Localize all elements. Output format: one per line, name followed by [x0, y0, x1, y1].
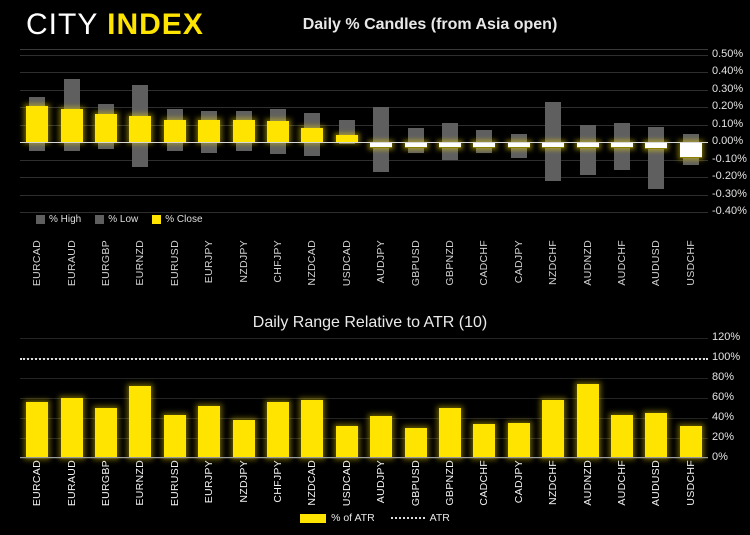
candle[interactable]: [295, 55, 329, 212]
atr-bar[interactable]: [398, 338, 432, 458]
x-axis-tick-label: CADJPY: [513, 240, 525, 283]
x-axis-tick-label: AUDUSD: [650, 460, 662, 506]
atr-bar-fill: [473, 424, 495, 458]
candle[interactable]: [639, 55, 673, 212]
candle[interactable]: [364, 55, 398, 212]
atr-bar-fill: [301, 400, 323, 458]
atr-bar[interactable]: [54, 338, 88, 458]
candle-wick: [408, 128, 424, 152]
legend-label: % Low: [108, 214, 138, 225]
x-axis-tick-label: AUDJPY: [375, 240, 387, 283]
x-axis-tick-label: NZDCHF: [547, 460, 559, 505]
x-axis-tick-label: USDCHF: [685, 240, 697, 286]
x-axis-tick-label: CHFJPY: [272, 240, 284, 283]
x-axis-tick-label: EURUSD: [169, 460, 181, 506]
candle[interactable]: [467, 55, 501, 212]
y-axis-tick-label: 80%: [712, 371, 734, 383]
atr-bar-fill: [61, 398, 83, 458]
x-axis-tick-label: EURNZD: [134, 460, 146, 506]
x-axis-tick-label: NZDCAD: [306, 240, 318, 286]
page-title: Daily % Candles (from Asia open): [240, 16, 620, 34]
atr-bar-fill: [129, 386, 151, 458]
atr-bar[interactable]: [502, 338, 536, 458]
candle[interactable]: [502, 55, 536, 212]
x-axis-tick-label: EURGBP: [100, 460, 112, 506]
brand-logo-index: INDEX: [107, 8, 204, 41]
candle[interactable]: [674, 55, 708, 212]
x-axis-tick-label: USDCAD: [341, 460, 353, 506]
atr-chart-title: Daily Range Relative to ATR (10): [170, 314, 570, 332]
atr-bar-fill: [611, 415, 633, 458]
header-divider: [20, 49, 708, 50]
legend-bar-icon: [300, 514, 326, 523]
x-axis-tick-label: EURCAD: [31, 460, 43, 506]
y-axis-tick-label: -0.10%: [712, 153, 747, 165]
atr-chart-legend: % of ATRATR: [0, 512, 750, 524]
candle[interactable]: [54, 55, 88, 212]
x-axis-tick-label: EURJPY: [203, 460, 215, 503]
candle-body: [198, 120, 220, 143]
y-axis-tick-label: 0.10%: [712, 118, 743, 130]
y-axis-tick-label: 120%: [712, 331, 740, 343]
legend-swatch-icon: [95, 215, 104, 224]
atr-bar-fill: [370, 416, 392, 458]
candle[interactable]: [330, 55, 364, 212]
candle[interactable]: [158, 55, 192, 212]
candle-body: [26, 106, 48, 143]
x-axis-tick-label: EURAUD: [66, 240, 78, 286]
candle-body: [301, 128, 323, 142]
y-axis-tick-label: 40%: [712, 411, 734, 423]
x-axis-tick-label: EURAUD: [66, 460, 78, 506]
atr-bar[interactable]: [639, 338, 673, 458]
candle[interactable]: [536, 55, 570, 212]
atr-bar-fill: [336, 426, 358, 458]
y-axis-tick-label: -0.40%: [712, 205, 747, 217]
atr-bar-fill: [267, 402, 289, 458]
atr-bar[interactable]: [364, 338, 398, 458]
x-axis-tick-label: NZDCAD: [306, 460, 318, 506]
legend-swatch-icon: [36, 215, 45, 224]
candle-body: [680, 142, 702, 158]
candle[interactable]: [570, 55, 604, 212]
atr-bar-fill: [680, 426, 702, 458]
candle[interactable]: [20, 55, 54, 212]
y-axis-tick-label: 0.00%: [712, 135, 743, 147]
y-axis-tick-label: 0.30%: [712, 83, 743, 95]
atr-bar[interactable]: [570, 338, 604, 458]
x-axis-tick-label: CADCHF: [478, 460, 490, 506]
gridline: [20, 212, 708, 213]
candle[interactable]: [192, 55, 226, 212]
candle[interactable]: [433, 55, 467, 212]
y-axis-tick-label: 0%: [712, 451, 728, 463]
x-axis-tick-label: EURGBP: [100, 240, 112, 286]
x-axis-tick-label: EURCAD: [31, 240, 43, 286]
atr-reference-line: [20, 358, 708, 360]
legend-swatch-icon: [152, 215, 161, 224]
atr-bar[interactable]: [536, 338, 570, 458]
atr-bar[interactable]: [89, 338, 123, 458]
y-axis-tick-label: 60%: [712, 391, 734, 403]
candle[interactable]: [261, 55, 295, 212]
atr-chart-x-axis: EURCADEURAUDEURGBPEURNZDEURUSDEURJPYNZDJ…: [20, 460, 708, 518]
atr-bar-fill: [508, 423, 530, 458]
legend-label: ATR: [430, 512, 450, 524]
atr-bar-fill: [577, 384, 599, 458]
legend-dotted-line-icon: [391, 517, 425, 519]
legend-item: % Low: [95, 214, 138, 225]
x-axis-tick-label: EURUSD: [169, 240, 181, 286]
candle-body: [233, 120, 255, 143]
y-axis-tick-label: 0.40%: [712, 65, 743, 77]
x-axis-tick-label: AUDJPY: [375, 460, 387, 503]
x-axis-tick-label: AUDCHF: [616, 240, 628, 286]
candle-wick: [373, 107, 389, 172]
x-axis-tick-label: USDCHF: [685, 460, 697, 506]
x-axis-tick-label: AUDUSD: [650, 240, 662, 286]
candle-body: [164, 120, 186, 143]
atr-bar[interactable]: [330, 338, 364, 458]
legend-item: % High: [36, 214, 81, 225]
x-axis-tick-label: EURNZD: [134, 240, 146, 286]
atr-chart-baseline: [20, 457, 708, 458]
atr-bar[interactable]: [261, 338, 295, 458]
candle[interactable]: [89, 55, 123, 212]
candle-body: [267, 121, 289, 142]
candle-body: [61, 109, 83, 142]
screenshot-root: CITY INDEX Daily % Candles (from Asia op…: [0, 0, 750, 535]
legend-label: % Close: [165, 214, 202, 225]
atr-bar-fill: [439, 408, 461, 458]
candle-wick: [580, 125, 596, 176]
legend-label: % of ATR: [331, 512, 375, 524]
atr-bar[interactable]: [467, 338, 501, 458]
legend-item: % Close: [152, 214, 202, 225]
x-axis-tick-label: GBPNZD: [444, 240, 456, 286]
x-axis-tick-label: CADCHF: [478, 240, 490, 286]
y-axis-tick-label: 100%: [712, 351, 740, 363]
candle-chart-x-axis: EURCADEURAUDEURGBPEURNZDEURUSDEURJPYNZDJ…: [20, 240, 708, 302]
x-axis-tick-label: NZDCHF: [547, 240, 559, 285]
gridline: [20, 458, 708, 459]
brand-logo: CITY INDEX: [26, 8, 204, 42]
atr-bar[interactable]: [158, 338, 192, 458]
atr-bar-fill: [233, 420, 255, 458]
atr-bar[interactable]: [192, 338, 226, 458]
atr-bar[interactable]: [295, 338, 329, 458]
atr-bar[interactable]: [226, 338, 260, 458]
atr-bar-fill: [164, 415, 186, 458]
y-axis-tick-label: 0.50%: [712, 48, 743, 60]
atr-bar-fill: [542, 400, 564, 458]
x-axis-tick-label: GBPUSD: [410, 240, 422, 286]
candle-wick: [648, 127, 664, 190]
atr-bar[interactable]: [605, 338, 639, 458]
gridline: [20, 142, 708, 143]
x-axis-tick-label: AUDNZD: [582, 240, 594, 286]
x-axis-tick-label: CHFJPY: [272, 460, 284, 503]
y-axis-tick-label: -0.20%: [712, 170, 747, 182]
x-axis-tick-label: NZDJPY: [238, 460, 250, 503]
x-axis-tick-label: USDCAD: [341, 240, 353, 286]
x-axis-tick-label: AUDNZD: [582, 460, 594, 506]
brand-logo-city: CITY: [26, 8, 98, 41]
atr-bar-fill: [645, 413, 667, 458]
x-axis-tick-label: AUDCHF: [616, 460, 628, 506]
legend-item: % of ATR: [300, 512, 375, 524]
x-axis-tick-label: NZDJPY: [238, 240, 250, 283]
legend-item: ATR: [391, 512, 450, 524]
x-axis-tick-label: GBPNZD: [444, 460, 456, 506]
atr-bar[interactable]: [123, 338, 157, 458]
atr-bar[interactable]: [433, 338, 467, 458]
candle-chart-legend: % High% Low% Close: [36, 214, 203, 225]
candle[interactable]: [605, 55, 639, 212]
y-axis-tick-label: 20%: [712, 431, 734, 443]
candle[interactable]: [398, 55, 432, 212]
atr-bar[interactable]: [20, 338, 54, 458]
atr-bar-fill: [405, 428, 427, 458]
atr-bar-fill: [198, 406, 220, 458]
x-axis-tick-label: GBPUSD: [410, 460, 422, 506]
y-axis-tick-label: 0.20%: [712, 100, 743, 112]
x-axis-tick-label: EURJPY: [203, 240, 215, 283]
atr-chart-plot: [20, 338, 708, 458]
y-axis-tick-label: -0.30%: [712, 188, 747, 200]
legend-label: % High: [49, 214, 81, 225]
atr-bar[interactable]: [674, 338, 708, 458]
x-axis-tick-label: CADJPY: [513, 460, 525, 503]
candle-body: [336, 135, 358, 142]
candle-chart-plot: [20, 55, 708, 212]
atr-bar-fill: [95, 408, 117, 458]
candle[interactable]: [226, 55, 260, 212]
candle-body: [645, 142, 667, 149]
candle-body: [95, 114, 117, 142]
candle[interactable]: [123, 55, 157, 212]
atr-bar-fill: [26, 402, 48, 458]
candle-body: [129, 116, 151, 142]
